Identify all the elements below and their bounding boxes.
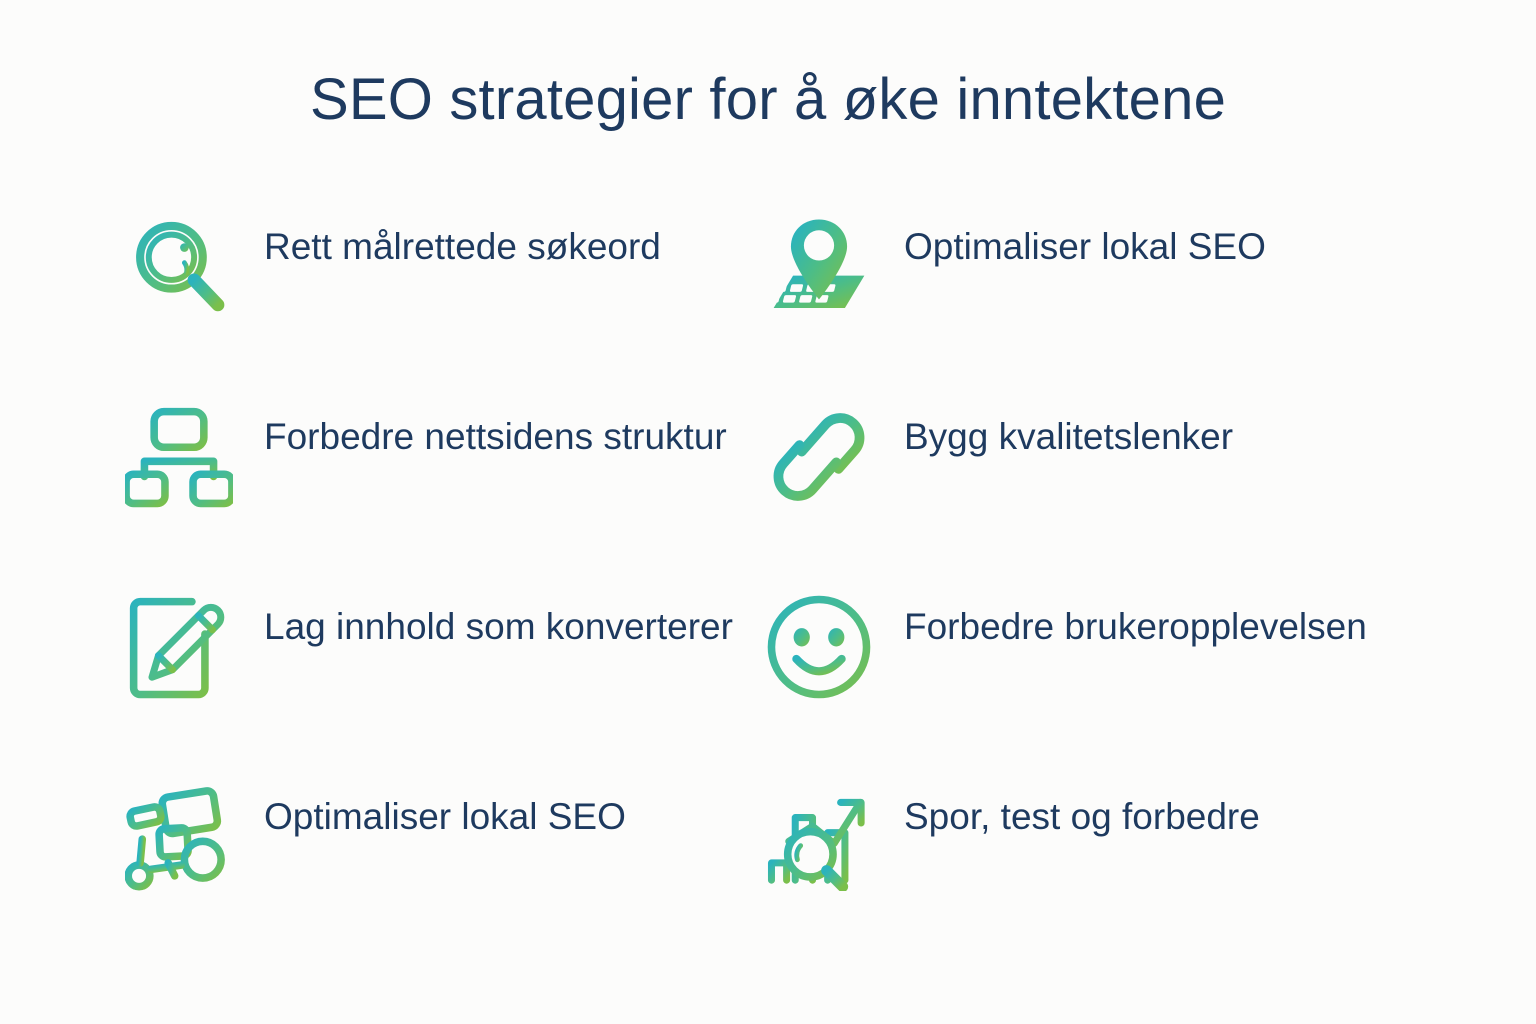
list-item-label: Forbedre brukeropplevelsen [904,585,1367,655]
list-item[interactable]: Lag innhold som konverterer [120,585,760,775]
list-item-label: Forbedre nettsidens struktur [264,395,727,465]
smiley-face-icon [760,585,878,715]
list-item-label: Spor, test og forbedre [904,775,1260,845]
list-item[interactable]: Optimaliser lokal SEO [120,775,760,965]
map-pin-icon [760,205,878,335]
magnifier-icon [120,205,238,335]
list-item[interactable]: Rett målrettede søkeord [120,205,760,395]
list-item[interactable]: Optimaliser lokal SEO [760,205,1440,395]
list-item-label: Optimaliser lokal SEO [904,205,1266,275]
list-item-label: Rett målrettede søkeord [264,205,661,275]
list-item-label: Lag innhold som konverterer [264,585,733,655]
sitemap-icon [120,395,238,525]
list-item[interactable]: Forbedre nettsidens struktur [120,395,760,585]
list-item[interactable]: Bygg kvalitetslenker [760,395,1440,585]
infographic-poster: SEO strategier for å øke inntektene Rett… [0,0,1536,1024]
chain-link-icon [760,395,878,525]
page-title: SEO strategier for å øke inntektene [0,66,1536,134]
list-item-label: Bygg kvalitetslenker [904,395,1233,465]
strategy-grid: Rett målrettede søkeord [120,205,1440,965]
chart-magnifier-icon [760,775,878,905]
abstract-shapes-icon [120,775,238,905]
document-pencil-icon [120,585,238,715]
list-item[interactable]: Forbedre brukeropplevelsen [760,585,1440,775]
list-item-label: Optimaliser lokal SEO [264,775,626,845]
list-item[interactable]: Spor, test og forbedre [760,775,1440,965]
